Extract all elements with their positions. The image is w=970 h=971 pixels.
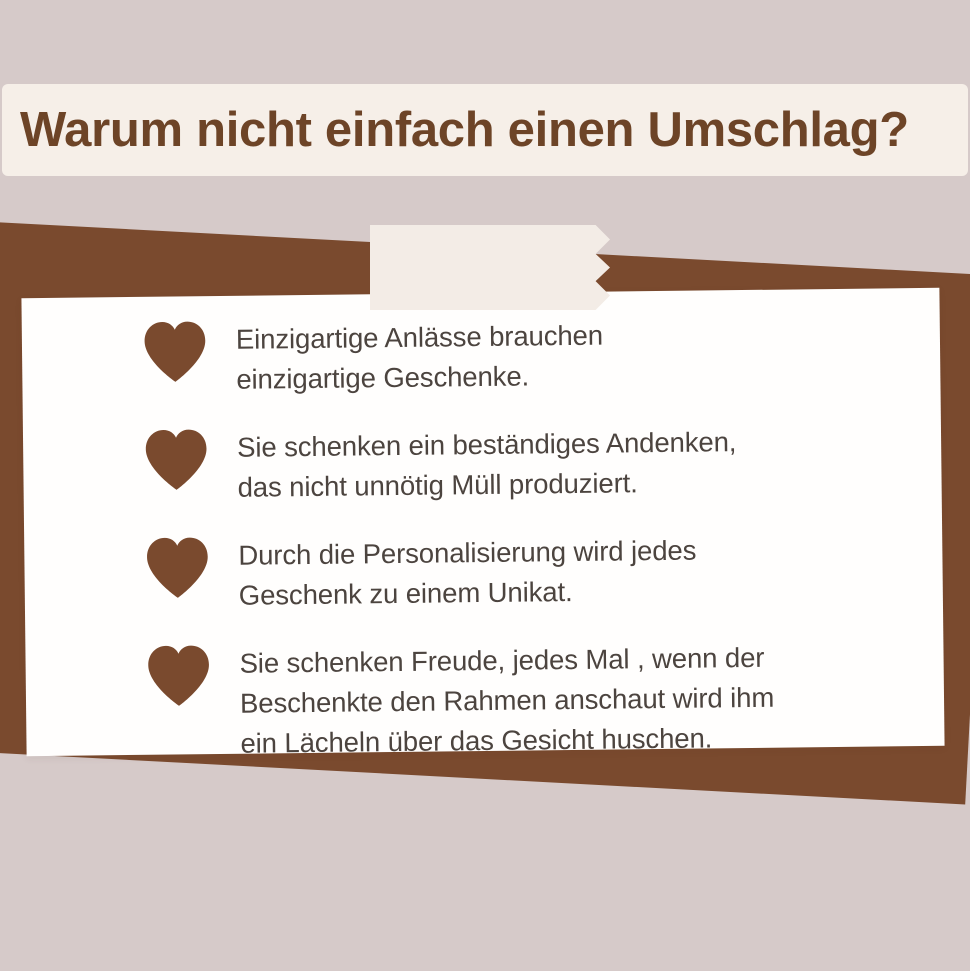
heart-icon <box>144 536 211 599</box>
benefits-list: Einzigartige Anlässe brauchen einzigarti… <box>21 288 944 756</box>
list-item: Sie schenken ein beständiges Andenken, d… <box>143 418 902 509</box>
list-item-text: Sie schenken ein beständiges Andenken, d… <box>237 420 737 508</box>
poster-canvas: Warum nicht einfach einen Umschlag? Einz… <box>0 0 970 971</box>
heart-icon <box>143 428 210 491</box>
list-item: Einzigartige Anlässe brauchen einzigarti… <box>142 310 901 401</box>
heart-icon <box>142 320 209 383</box>
list-item-text: Durch die Personalisierung wird jedes Ge… <box>238 529 697 616</box>
heart-icon <box>145 644 212 707</box>
list-item-text: Sie schenken Freude, jedes Mal , wenn de… <box>239 636 775 764</box>
list-item: Durch die Personalisierung wird jedes Ge… <box>144 526 903 617</box>
title-banner: Warum nicht einfach einen Umschlag? <box>2 84 968 176</box>
list-item: Sie schenken Freude, jedes Mal , wenn de… <box>145 634 904 765</box>
list-item-text: Einzigartige Anlässe brauchen einzigarti… <box>236 314 604 400</box>
page-title: Warum nicht einfach einen Umschlag? <box>20 106 909 155</box>
